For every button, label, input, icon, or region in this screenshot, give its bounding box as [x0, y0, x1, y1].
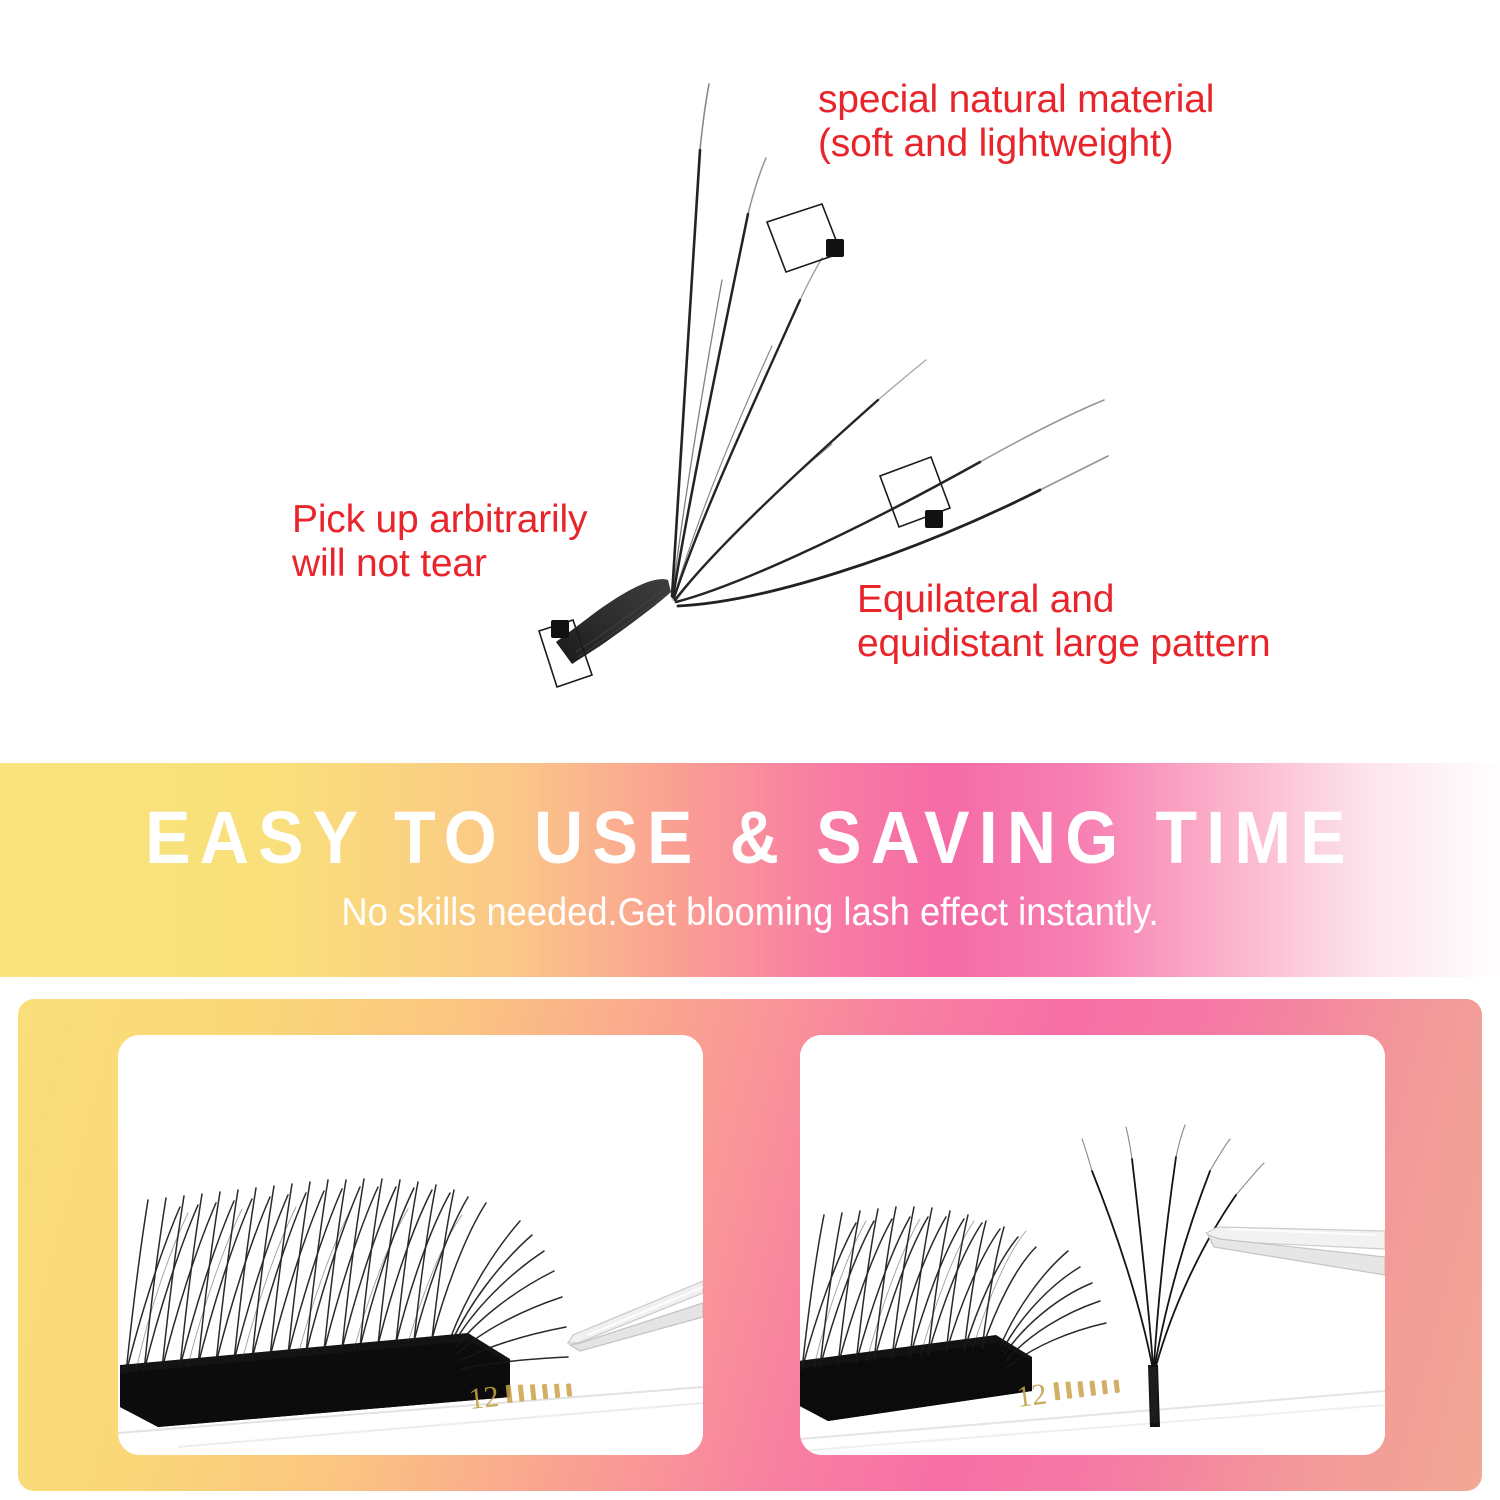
marker-square-middle — [880, 457, 950, 528]
banner-subtitle: No skills needed.Get blooming lash effec… — [53, 891, 1448, 935]
callout-pick-up-arbitrarily: Pick up arbitrarily will not tear — [292, 498, 587, 586]
lash-fan-pickup-photo: 12 — [800, 1035, 1385, 1455]
photo-card-lash-fan-pickup: 12 — [800, 1035, 1385, 1455]
lash-diagram-section: special natural material (soft and light… — [0, 0, 1500, 763]
photo-card-lash-tray-with-tweezers: 12 — [118, 1035, 703, 1455]
product-photos-section: 12 — [18, 999, 1482, 1491]
svg-text:12: 12 — [467, 1380, 500, 1416]
marker-square-top — [767, 204, 844, 272]
easy-to-use-banner: EASY TO USE & SAVING TIME No skills need… — [0, 763, 1500, 977]
lash-tray-photo: 12 — [118, 1035, 703, 1455]
callout-equilateral-equidistant: Equilateral and equidistant large patter… — [857, 578, 1270, 666]
lash-fan-illustration — [0, 0, 1500, 763]
banner-title: EASY TO USE & SAVING TIME — [60, 795, 1440, 880]
product-feature-page: special natural material (soft and light… — [0, 0, 1500, 1500]
callout-special-natural-material: special natural material (soft and light… — [818, 78, 1214, 166]
svg-text:12: 12 — [1015, 1378, 1049, 1414]
